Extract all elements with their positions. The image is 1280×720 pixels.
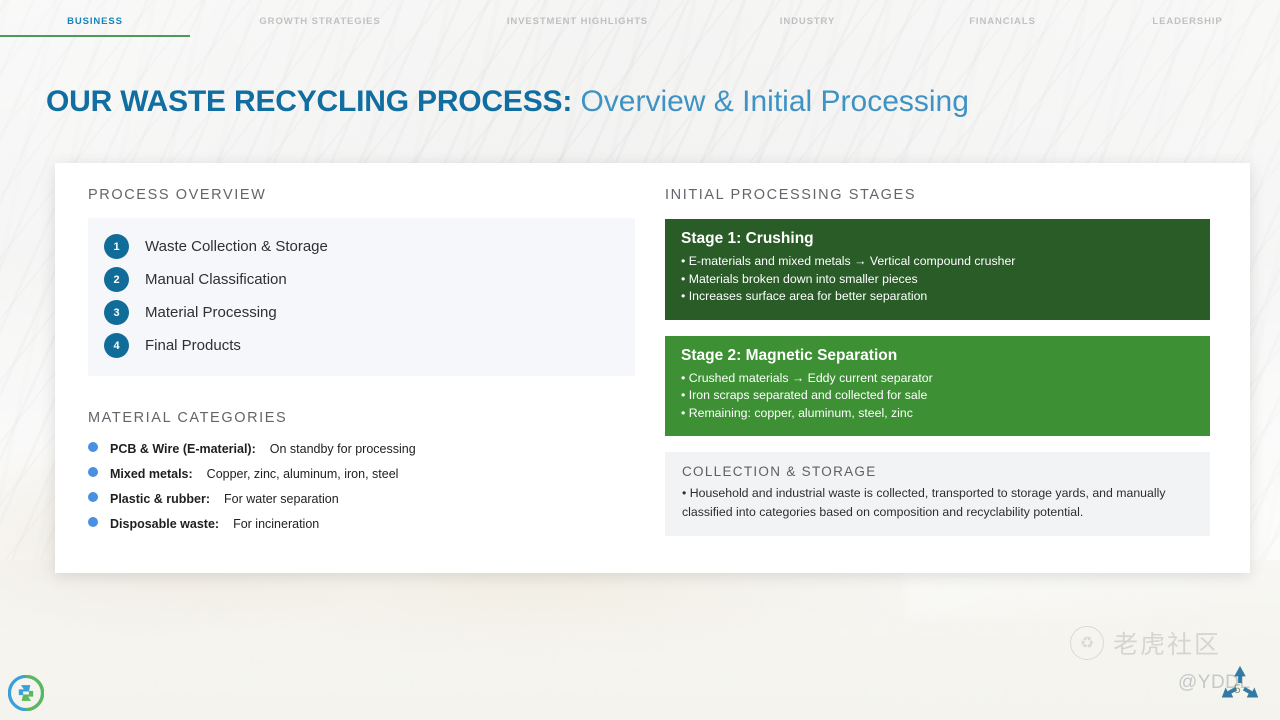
- material-row-disposable-waste: Disposable waste: For incineration: [88, 517, 635, 542]
- recycling-globe-logo: [8, 675, 44, 711]
- step-label: Material Processing: [145, 304, 277, 321]
- page-title-light: Overview & Initial Processing: [572, 85, 969, 118]
- step-number-badge: 1: [104, 234, 129, 259]
- material-name: Disposable waste:: [110, 517, 219, 531]
- stage-bullet: • Crushed materials → Eddy current separ…: [681, 370, 1194, 388]
- material-name: Mixed metals:: [110, 467, 193, 481]
- material-value: For incineration: [233, 517, 319, 531]
- collection-storage-card: COLLECTION & STORAGE • Household and ind…: [665, 452, 1210, 536]
- bullet-dot-icon: [88, 467, 98, 477]
- stage-card-crushing: Stage 1: Crushing • E-materials and mixe…: [665, 219, 1210, 320]
- bullet-dot-icon: [88, 442, 98, 452]
- collection-storage-body: • Household and industrial waste is coll…: [682, 484, 1194, 522]
- right-column: INITIAL PROCESSING STAGES Stage 1: Crush…: [655, 163, 1250, 573]
- step-label: Manual Classification: [145, 271, 287, 288]
- step-number-badge: 4: [104, 333, 129, 358]
- process-step-4[interactable]: 4 Final Products: [104, 329, 619, 362]
- nav-item-financials[interactable]: FINANCIALS: [910, 0, 1095, 27]
- process-step-3[interactable]: 3 Material Processing: [104, 296, 619, 329]
- process-step-1[interactable]: 1 Waste Collection & Storage: [104, 230, 619, 263]
- material-categories-heading: MATERIAL CATEGORIES: [88, 410, 635, 426]
- watermark-label: 老虎社区: [1113, 625, 1221, 661]
- stage-title: Stage 1: Crushing: [681, 230, 1194, 248]
- material-name: Plastic & rubber:: [110, 492, 210, 506]
- material-row-mixed-metals: Mixed metals: Copper, zinc, aluminum, ir…: [88, 467, 635, 492]
- top-navigation: BUSINESS GROWTH STRATEGIES INVESTMENT HI…: [0, 0, 1280, 42]
- nav-item-investment-highlights[interactable]: INVESTMENT HIGHLIGHTS: [450, 0, 705, 27]
- nav-item-industry[interactable]: INDUSTRY: [705, 0, 910, 27]
- page-title-strong: OUR WASTE RECYCLING PROCESS:: [46, 85, 572, 118]
- site-watermark: ♻ 老虎社区: [1070, 625, 1221, 661]
- nav-item-business[interactable]: BUSINESS: [0, 0, 190, 27]
- nav-item-leadership[interactable]: LEADERSHIP: [1095, 0, 1280, 27]
- stage-bullet: • E-materials and mixed metals → Vertica…: [681, 253, 1194, 271]
- material-value: For water separation: [224, 492, 339, 506]
- material-value: On standby for processing: [270, 442, 416, 456]
- stage-title: Stage 2: Magnetic Separation: [681, 347, 1194, 365]
- stage-card-magnetic-separation: Stage 2: Magnetic Separation • Crushed m…: [665, 336, 1210, 437]
- bullet-dot-icon: [88, 492, 98, 502]
- material-row-pcb-wire: PCB & Wire (E-material): On standby for …: [88, 442, 635, 467]
- nav-item-growth-strategies[interactable]: GROWTH STRATEGIES: [190, 0, 450, 27]
- process-step-2[interactable]: 2 Manual Classification: [104, 263, 619, 296]
- watermark-recycle-icon: ♻: [1070, 626, 1104, 660]
- process-overview-heading: PROCESS OVERVIEW: [88, 187, 635, 203]
- collection-storage-heading: COLLECTION & STORAGE: [682, 464, 1194, 479]
- step-number-badge: 3: [104, 300, 129, 325]
- material-row-plastic-rubber: Plastic & rubber: For water separation: [88, 492, 635, 517]
- content-card: PROCESS OVERVIEW 1 Waste Collection & St…: [55, 163, 1250, 573]
- stage-bullet: • Iron scraps separated and collected fo…: [681, 387, 1194, 405]
- nav-active-underline: [0, 35, 190, 37]
- material-value: Copper, zinc, aluminum, iron, steel: [207, 467, 399, 481]
- recycle-symbol-icon: [1216, 662, 1264, 710]
- page-title: OUR WASTE RECYCLING PROCESS: Overview & …: [46, 82, 1196, 122]
- step-label: Waste Collection & Storage: [145, 238, 328, 255]
- step-number-badge: 2: [104, 267, 129, 292]
- left-column: PROCESS OVERVIEW 1 Waste Collection & St…: [55, 163, 655, 573]
- initial-processing-heading: INITIAL PROCESSING STAGES: [665, 187, 1210, 203]
- process-overview-panel: 1 Waste Collection & Storage 2 Manual Cl…: [88, 218, 635, 376]
- material-categories-list: PCB & Wire (E-material): On standby for …: [88, 442, 635, 542]
- bullet-dot-icon: [88, 517, 98, 527]
- step-label: Final Products: [145, 337, 241, 354]
- material-name: PCB & Wire (E-material):: [110, 442, 256, 456]
- stage-bullet: • Increases surface area for better sepa…: [681, 288, 1194, 306]
- stage-bullet: • Materials broken down into smaller pie…: [681, 271, 1194, 289]
- stage-bullet: • Remaining: copper, aluminum, steel, zi…: [681, 405, 1194, 423]
